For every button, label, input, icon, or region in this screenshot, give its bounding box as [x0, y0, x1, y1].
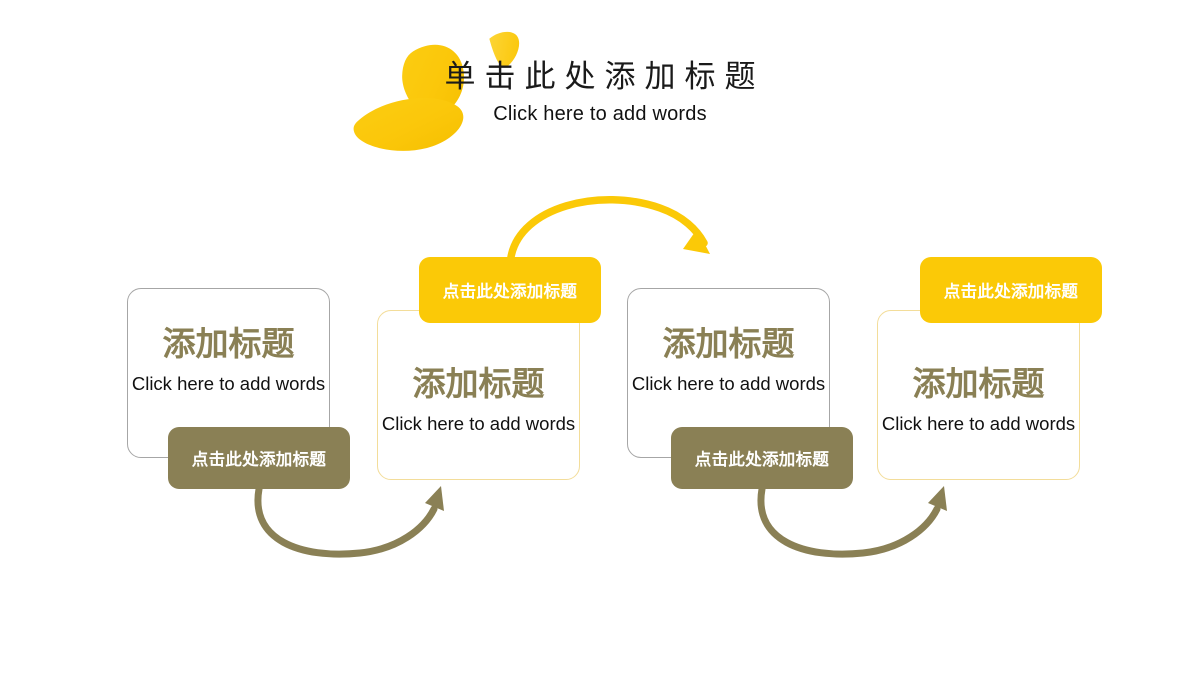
card-1-body: Click here to add words: [128, 373, 329, 395]
card-3-chip-label: 点击此处添加标题: [695, 446, 829, 470]
card-2-chip-label: 点击此处添加标题: [443, 278, 577, 302]
card-4-body: Click here to add words: [878, 413, 1079, 435]
card-2-body: Click here to add words: [378, 413, 579, 435]
card-1-chip-label: 点击此处添加标题: [192, 446, 326, 470]
card-2-heading: 添加标题: [378, 357, 579, 405]
card-3-body: Click here to add words: [628, 373, 829, 395]
card-4-chip-label: 点击此处添加标题: [944, 278, 1078, 302]
card-1-chip[interactable]: 点击此处添加标题: [168, 427, 350, 489]
card-4-heading: 添加标题: [878, 357, 1079, 405]
slide-canvas: 单击此处添加标题 Click here to add words 添加标题 Cl…: [0, 0, 1200, 675]
card-3-heading: 添加标题: [628, 317, 829, 365]
card-4[interactable]: 添加标题 Click here to add words: [877, 310, 1080, 480]
card-2[interactable]: 添加标题 Click here to add words: [377, 310, 580, 480]
card-1-heading: 添加标题: [128, 317, 329, 365]
card-2-chip[interactable]: 点击此处添加标题: [419, 257, 601, 323]
cards-stage: 添加标题 Click here to add words 添加标题 Click …: [0, 0, 1200, 675]
card-4-chip[interactable]: 点击此处添加标题: [920, 257, 1102, 323]
card-3-chip[interactable]: 点击此处添加标题: [671, 427, 853, 489]
